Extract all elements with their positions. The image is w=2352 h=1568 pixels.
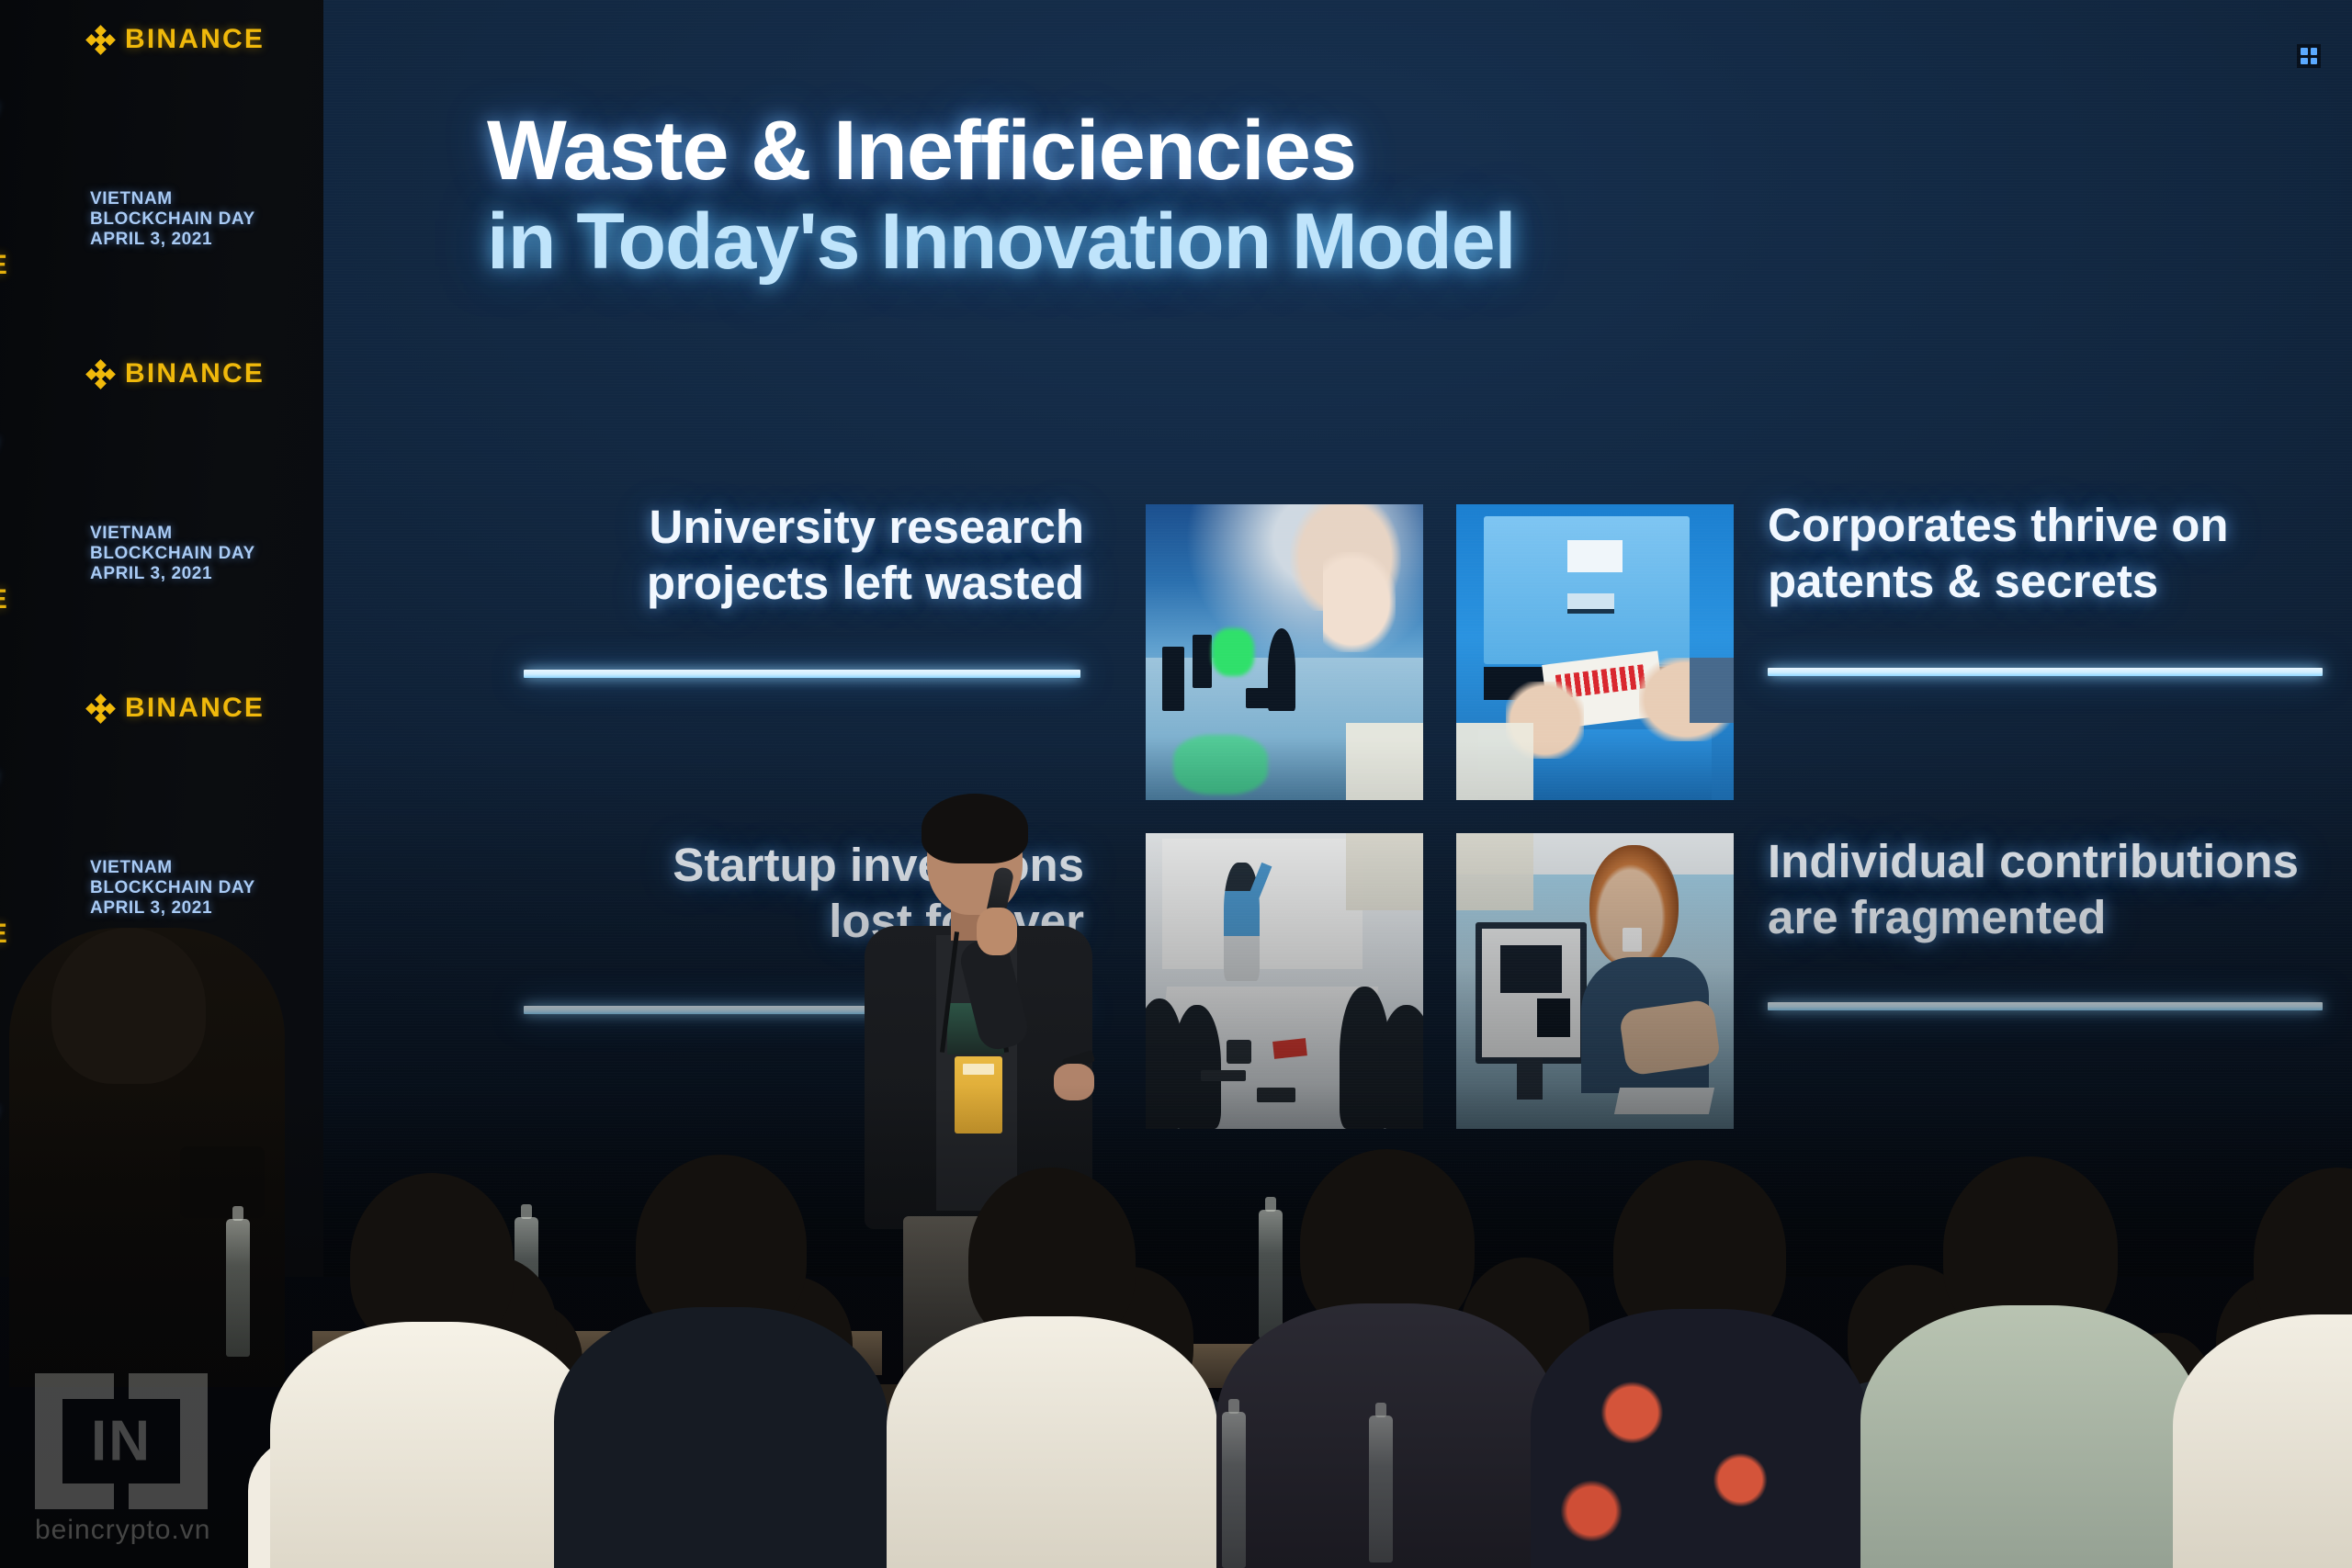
torso [270, 1322, 594, 1568]
slide-title-line2: in Today's Innovation Model [487, 202, 1515, 283]
audience-member [1893, 1156, 2168, 1568]
drawer-handle [1567, 593, 1614, 615]
binance-logo: BINANCE [88, 24, 265, 55]
white-overlay-patch [1456, 833, 1533, 910]
banner-event-block: VIETNAM BLOCKCHAIN DAY APRIL 3, 2021 [88, 167, 323, 334]
binance-wordmark: BINANCE [0, 250, 9, 281]
shirt-sleeve [1690, 658, 1734, 723]
statement-text: Corporates thrive on patents & secrets [1768, 498, 2326, 609]
whiteboard [1162, 839, 1362, 969]
researcher-hand [1323, 552, 1396, 652]
water-bottle [226, 1219, 250, 1357]
optic-rail [1246, 688, 1295, 709]
binance-logo: BINANCE [0, 584, 9, 615]
water-bottle [1222, 1412, 1246, 1568]
statement-individual-contributions: Individual contributions are fragmented [1768, 834, 2337, 1010]
watermark: IN beincrypto.vn [35, 1373, 311, 1548]
binance-logo: BINANCE [88, 358, 265, 389]
audience [0, 1084, 2352, 1568]
banner-event-block: VIETNAM BLOCKCHAIN DAY APRIL 3, 2021 [88, 502, 323, 669]
expand-arrow [2311, 58, 2318, 65]
banner-logo-block: BINANCE [0, 0, 72, 59]
photo-filing-cabinet [1456, 504, 1734, 800]
banner-logo-block: BINANCE [88, 0, 323, 167]
event-title: VIETNAM BLOCKCHAIN DAY APRIL 3, 2021 [90, 524, 255, 584]
white-overlay-patch [1346, 723, 1423, 800]
banner-event-block: VIETNAM BLOCKCHAIN DAY APRIL 3, 2021 [0, 393, 72, 560]
slide-photo-grid [1146, 504, 1734, 1131]
expand-icon[interactable] [2297, 44, 2321, 68]
banner-event-block: VIETNAM BLOCKCHAIN DAY APRIL 3, 2021 [0, 59, 72, 226]
watermark-site: beincrypto.vn [35, 1515, 311, 1546]
banner-logo-block: BINANCE [88, 334, 323, 502]
beincrypto-logo-icon: IN [35, 1373, 208, 1509]
binance-logo: BINANCE [0, 250, 9, 281]
foreground-person-head [51, 928, 206, 1084]
speaker-hair [922, 794, 1028, 863]
binance-mark-icon [88, 696, 113, 721]
drawer-label [1567, 540, 1623, 572]
audience-member [303, 1173, 560, 1568]
binance-mark-icon [88, 28, 113, 52]
event-title: VIETNAM BLOCKCHAIN DAY APRIL 3, 2021 [90, 189, 255, 250]
audience-member [919, 1168, 1185, 1568]
statement-university-research: University research projects left wasted [524, 500, 1084, 678]
statement-text: University research projects left wasted [524, 500, 1084, 611]
hand-cursor-icon [1623, 928, 1642, 952]
slide-title: Waste & Inefficiencies in Today's Innova… [487, 108, 1515, 283]
banner-event-block: VIETNAM BLOCKCHAIN DAY APRIL 3, 2021 [0, 728, 72, 895]
white-overlay-patch [1346, 833, 1423, 910]
slide-title-line1: Waste & Inefficiencies [487, 108, 1515, 195]
conference-photo: Waste & Inefficiencies in Today's Innova… [0, 0, 2352, 1568]
statement-underline [1768, 668, 2323, 676]
expand-arrow [2301, 58, 2308, 65]
watermark-logo-text: IN [91, 1409, 152, 1474]
binance-wordmark: BINANCE [0, 919, 9, 950]
statement-text: Individual contributions are fragmented [1768, 834, 2337, 945]
person-arm [1619, 998, 1722, 1076]
cabinet-drawer [1484, 516, 1689, 664]
speaker-hand [977, 908, 1017, 955]
optic-mount [1193, 635, 1212, 688]
audience-member [588, 1155, 854, 1568]
green-laser-glow [1173, 735, 1268, 794]
statement-underline [524, 670, 1080, 678]
desk-item [1201, 1070, 1245, 1082]
photo-lab-research [1146, 504, 1423, 800]
torso [554, 1307, 888, 1568]
banner-logo-block: BINANCE [0, 560, 72, 728]
binance-logo: BINANCE [88, 693, 265, 724]
binance-wordmark: BINANCE [125, 358, 265, 389]
binance-logo: BINANCE [0, 919, 9, 950]
audience-member [1562, 1160, 1837, 1568]
monitor-content [1537, 998, 1570, 1037]
audience-member [2205, 1168, 2352, 1568]
statement-underline [1768, 1002, 2323, 1010]
green-laser-glow [1212, 628, 1253, 676]
banner-logo-block: BINANCE [0, 226, 72, 393]
binance-wordmark: BINANCE [0, 584, 9, 615]
statement-corporates-patents: Corporates thrive on patents & secrets [1768, 498, 2326, 676]
torso [1531, 1309, 1869, 1568]
expand-arrow [2301, 48, 2308, 55]
banner-logo-block: BINANCE [88, 669, 323, 836]
water-bottle [1369, 1416, 1393, 1562]
monitor-content [1500, 945, 1561, 993]
coffee-cup [1227, 1040, 1251, 1064]
binance-wordmark: BINANCE [125, 693, 265, 724]
optic-mount [1162, 647, 1184, 712]
binance-wordmark: BINANCE [125, 24, 265, 55]
torso [1860, 1305, 2200, 1568]
white-overlay-patch [1456, 723, 1533, 800]
binance-mark-icon [88, 362, 113, 387]
event-title: VIETNAM BLOCKCHAIN DAY APRIL 3, 2021 [90, 858, 255, 919]
expand-arrow [2311, 48, 2318, 55]
torso [887, 1316, 1217, 1568]
